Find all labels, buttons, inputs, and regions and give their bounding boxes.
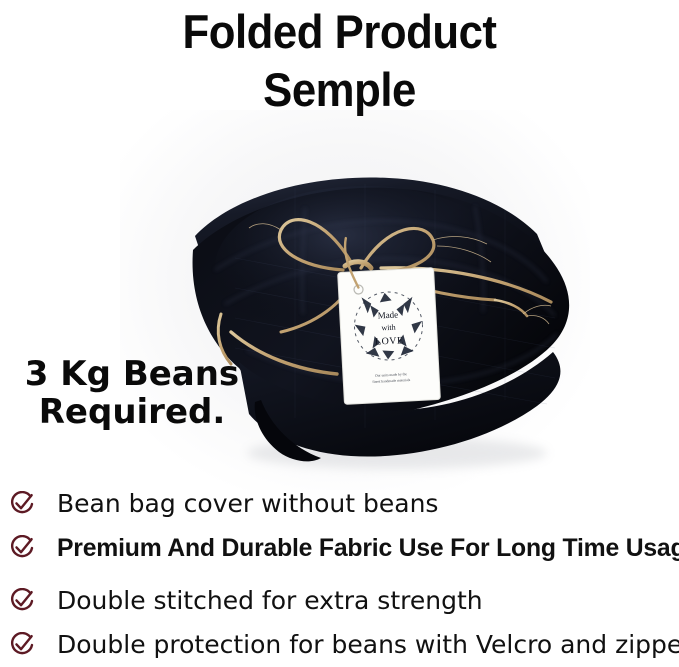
product-image-canvas: Folded Product Semple xyxy=(0,0,679,667)
list-item: Bean bag cover without beans xyxy=(0,483,679,527)
tag-text-with: with xyxy=(381,323,396,333)
circle-check-icon xyxy=(9,535,35,561)
circle-check-icon xyxy=(9,632,35,658)
beans-requirement-line-2: Required. xyxy=(8,395,256,429)
feature-list: Bean bag cover without beans Premium And… xyxy=(0,483,679,667)
feature-label: Premium And Durable Fabric Use For Long … xyxy=(57,529,679,567)
feature-label: Double stitched for extra strength xyxy=(57,582,483,620)
circle-check-icon xyxy=(9,491,35,517)
page-title-line-1: Folded Product xyxy=(24,8,655,55)
tag-text-made: Made xyxy=(377,309,398,320)
feature-label: Bean bag cover without beans xyxy=(57,485,438,523)
list-item: Premium And Durable Fabric Use For Long … xyxy=(0,527,679,571)
circle-check-icon xyxy=(9,588,35,614)
feature-label: Double protection for beans with Velcro … xyxy=(57,626,679,664)
page-title-line-2: Semple xyxy=(24,66,655,113)
tag-text-love: LOVE xyxy=(375,335,404,347)
beans-requirement-line-1: 3 Kg Beans xyxy=(8,357,256,391)
list-item: Double protection for beans with Velcro … xyxy=(0,624,679,667)
list-item: Double stitched for extra strength xyxy=(0,580,679,624)
